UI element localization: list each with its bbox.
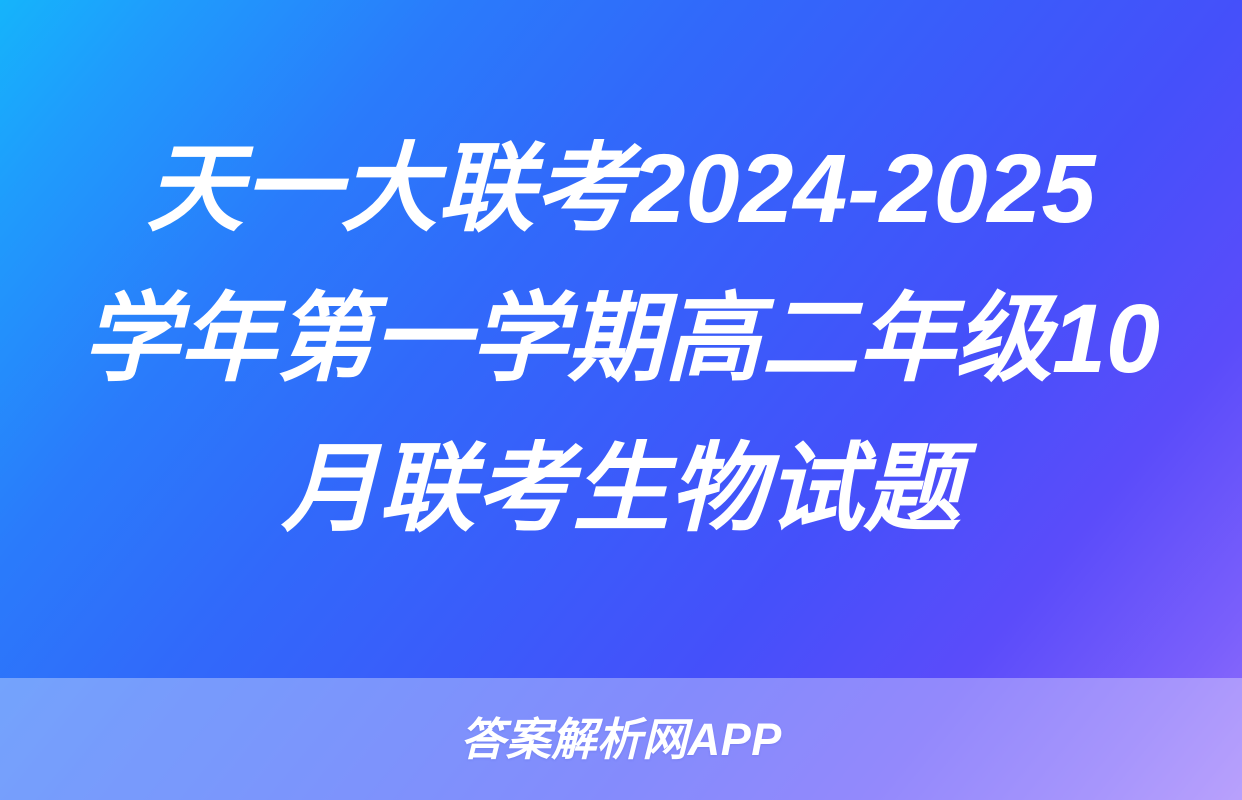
watermark-band: 答案解析网APP [0,678,1242,800]
title-line-1: 天一大联考2024-2025 [147,114,1096,264]
title-block: 天一大联考2024-2025 学年第一学期高二年级10 月联考生物试题 [0,0,1242,678]
poster-card: 天一大联考2024-2025 学年第一学期高二年级10 月联考生物试题 答案解析… [0,0,1242,800]
title-line-2: 学年第一学期高二年级10 [82,264,1160,414]
watermark-app-label: 答案解析网APP [460,717,782,762]
title-line-3: 月联考生物试题 [282,414,961,564]
